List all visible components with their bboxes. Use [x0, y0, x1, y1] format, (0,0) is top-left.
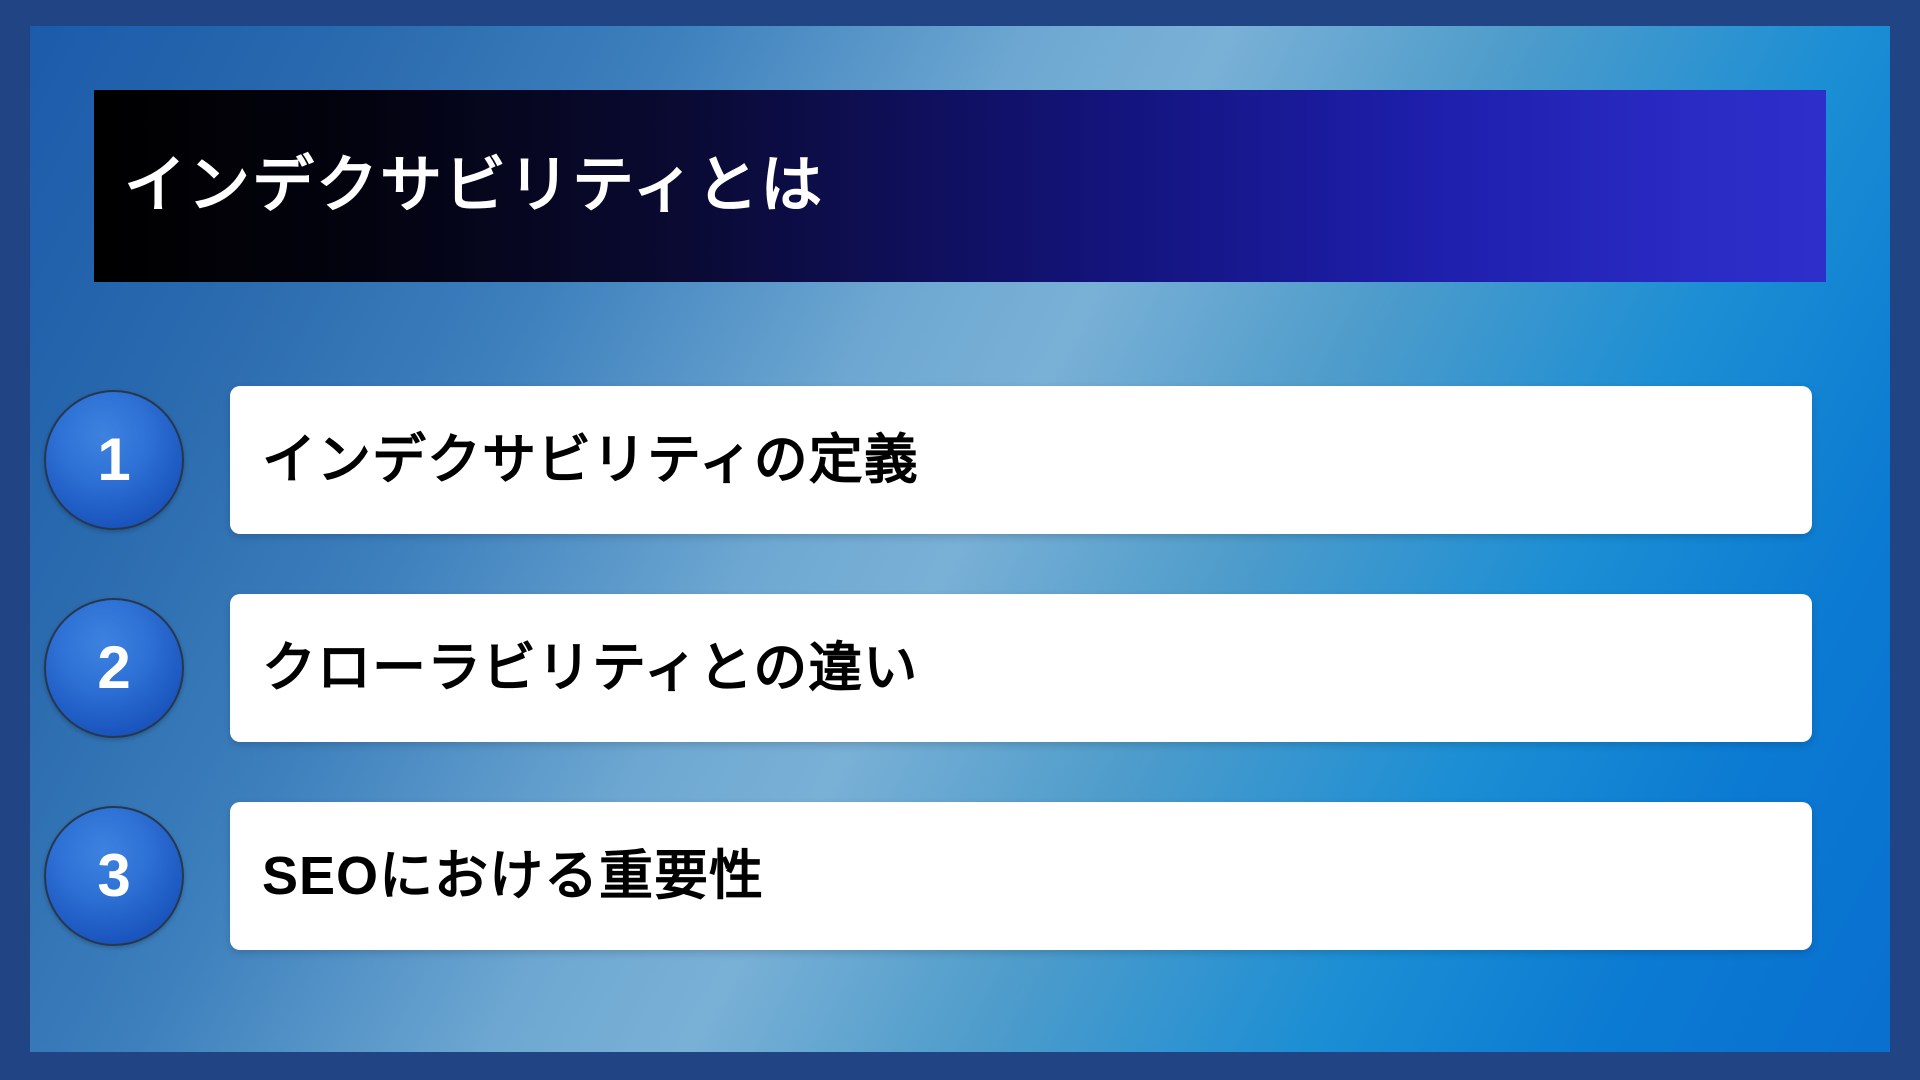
step-number-label: 3 [97, 846, 130, 906]
agenda-card-3[interactable]: SEOにおける重要性 [230, 802, 1812, 950]
agenda-card-label: インデクサビリティの定義 [262, 429, 919, 491]
step-number-label: 1 [97, 430, 130, 490]
agenda-card-2[interactable]: クローラビリティとの違い [230, 594, 1812, 742]
list-item[interactable]: 2 クローラビリティとの違い [30, 594, 1890, 742]
step-number-label: 2 [97, 638, 130, 698]
presentation-slide: インデクサビリティとは 1 インデクサビリティの定義 2 クローラビリティとの違… [0, 0, 1920, 1080]
slide-title-band: インデクサビリティとは [94, 90, 1826, 282]
page-title: インデクサビリティとは [124, 152, 824, 220]
agenda-card-label: クローラビリティとの違い [262, 637, 918, 699]
step-number-badge-3: 3 [44, 806, 184, 946]
agenda-list: 1 インデクサビリティの定義 2 クローラビリティとの違い 3 [30, 386, 1890, 950]
list-item[interactable]: 1 インデクサビリティの定義 [30, 386, 1890, 534]
slide-content-area: インデクサビリティとは 1 インデクサビリティの定義 2 クローラビリティとの違… [30, 26, 1890, 1052]
step-number-badge-2: 2 [44, 598, 184, 738]
step-number-badge-1: 1 [44, 390, 184, 530]
list-item[interactable]: 3 SEOにおける重要性 [30, 802, 1890, 950]
agenda-card-label: SEOにおける重要性 [262, 845, 764, 907]
agenda-card-1[interactable]: インデクサビリティの定義 [230, 386, 1812, 534]
